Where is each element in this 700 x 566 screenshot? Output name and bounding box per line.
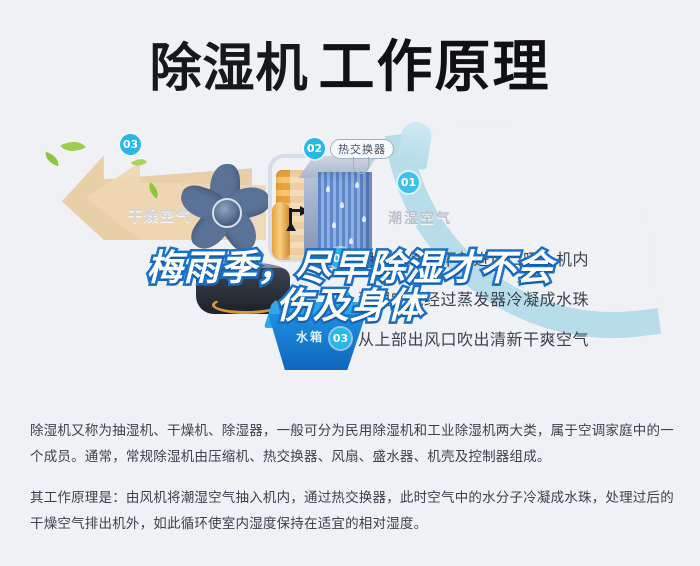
water-tank-label: 水箱 <box>296 328 324 345</box>
title-part-2: 工作原理 <box>319 35 551 100</box>
headline-line-1: 梅雨季，尽早除湿才不会 <box>0 250 700 288</box>
fan-hub <box>212 198 242 228</box>
title-part-1: 除湿机 <box>149 39 308 99</box>
humid-air-label: 潮湿空气 <box>388 208 452 228</box>
article-body: 除湿机又称为抽湿机、干燥机、除湿器，一般可分为民用除湿机和工业除湿机两大类，属于… <box>30 418 675 537</box>
step-text: 从上部出风口吹出清新干爽空气 <box>358 326 589 350</box>
headline-overlay: 梅雨季，尽早除湿才不会 伤及身体 <box>0 250 700 326</box>
leaf-icon <box>43 152 61 166</box>
badge-03-diagram: 03 <box>120 134 141 155</box>
list-item: 03 从上部出风口吹出清新干爽空气 <box>330 326 700 350</box>
leaf-icon <box>60 136 85 157</box>
heat-exchanger-callout: 02 热交换器 <box>304 138 394 159</box>
fan-illustration <box>168 158 280 262</box>
infographic-page: 除湿机工作原理 干燥空气 03 <box>0 0 700 566</box>
heat-exchanger-callout-label: 热交换器 <box>330 139 394 159</box>
flow-arrow-down-icon <box>286 222 296 231</box>
badge-01-diagram: 01 <box>398 172 419 193</box>
badge-03-step: 03 <box>330 328 351 349</box>
body-paragraph-2: 其工作原理是：由风机将潮湿空气抽入机内，通过热交换器，此时空气中的水分子冷凝成水… <box>30 485 675 538</box>
page-title: 除湿机工作原理 <box>0 22 700 103</box>
body-paragraph-1: 除湿机又称为抽湿机、干燥机、除湿器，一般可分为民用除湿机和工业除湿机两大类，属于… <box>30 418 675 471</box>
headline-line-2: 伤及身体 <box>0 288 700 326</box>
badge-02-diagram: 02 <box>304 138 325 159</box>
